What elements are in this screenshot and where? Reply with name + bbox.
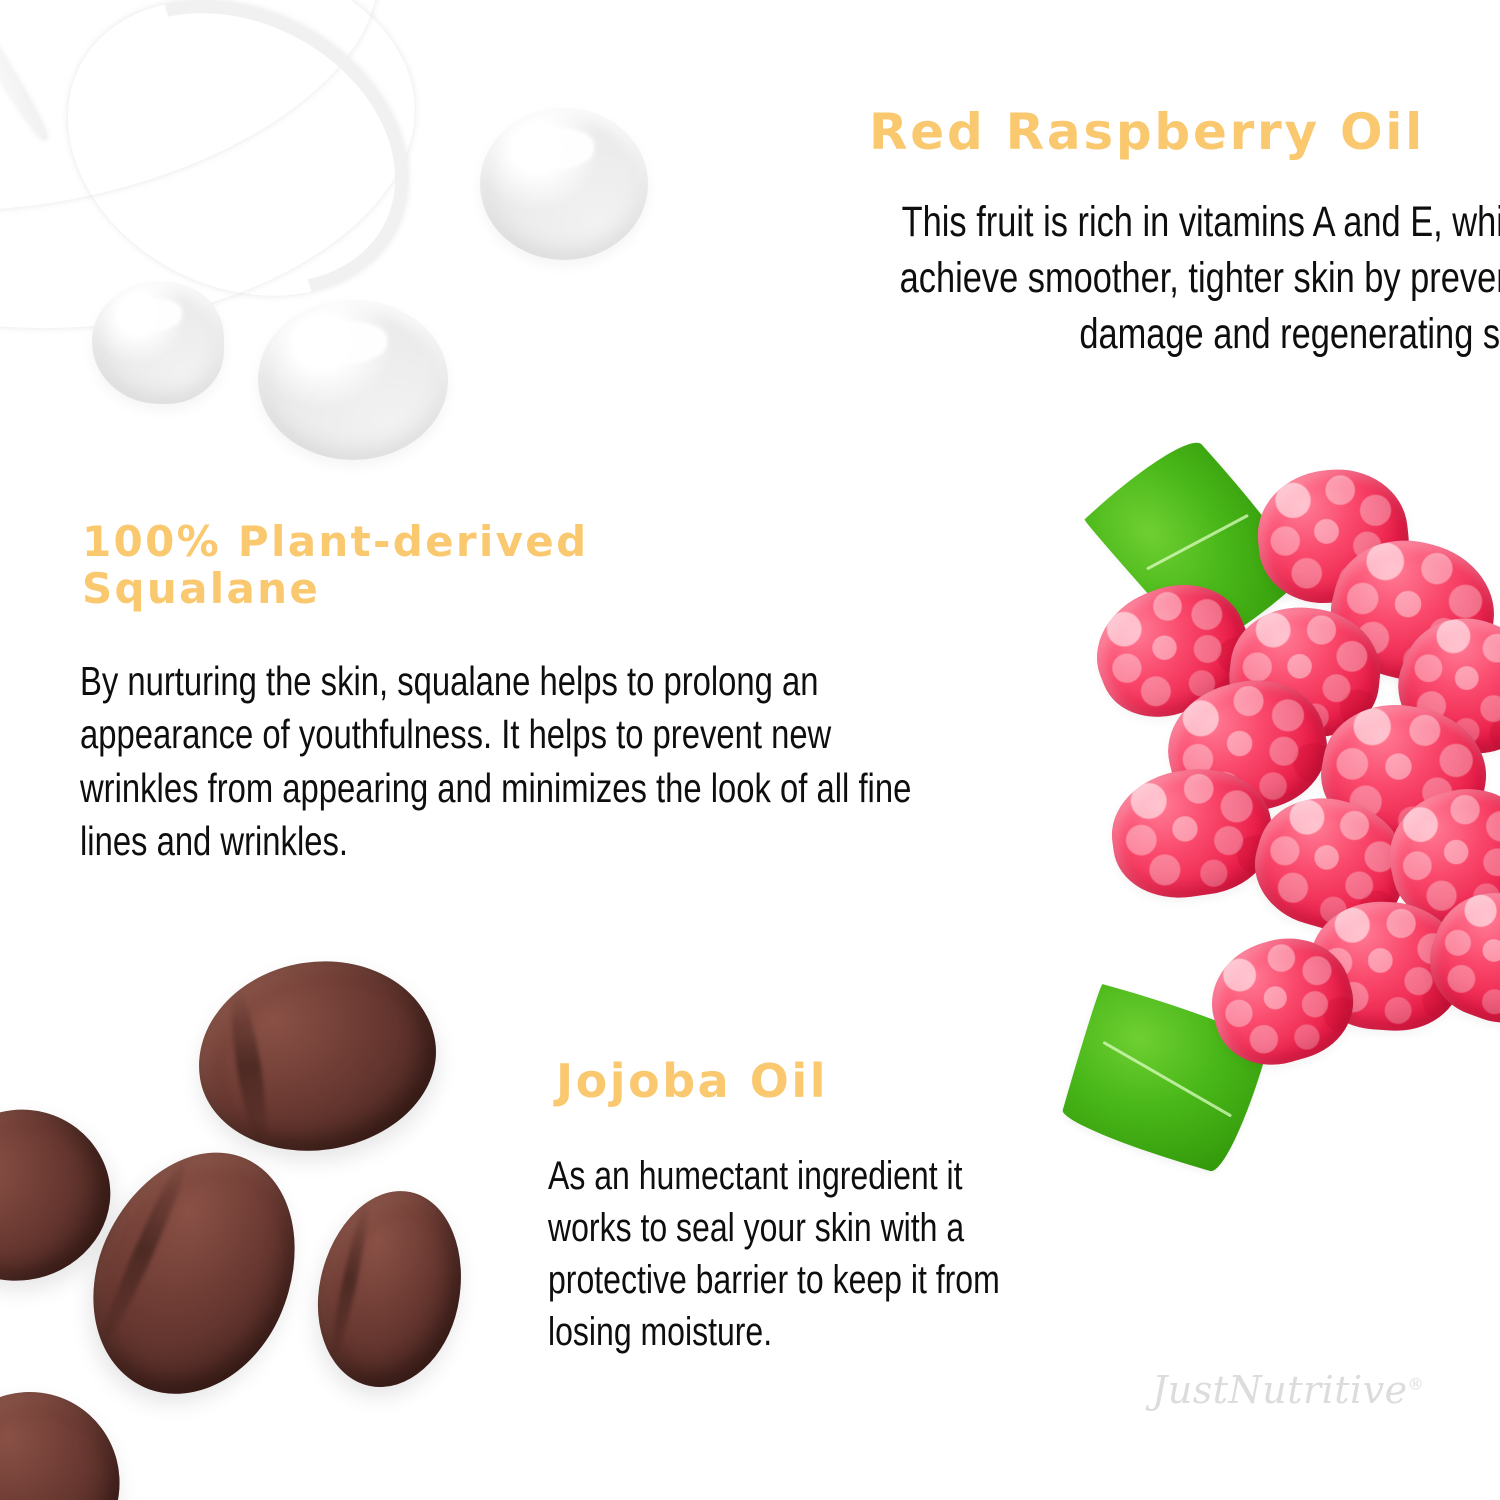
gel-swirl-stroke [0,0,409,264]
raspberry-section-body: This fruit is rich in vitamins A and E, … [806,195,1500,363]
raspberry-icon [1378,776,1500,935]
squalane-section-heading: 100% Plant-derived Squalane [82,518,722,612]
raspberry-icon [1306,897,1467,1035]
jojoba-section-heading: Jojoba Oil [556,1056,1056,1108]
raspberry-icon [1312,693,1497,853]
raspberry-leaf-icon [1058,983,1272,1177]
raspberry-leaf-icon [1082,428,1313,663]
raspberry-icon [1241,782,1420,946]
registered-mark-icon: ® [1408,1374,1425,1393]
gel-droplet-icon [480,108,648,260]
gel-swirl-stroke [16,0,460,353]
infographic-canvas: Red Raspberry Oil This fruit is rich in … [0,0,1500,1500]
gel-swirl-group [0,0,14,150]
squalane-section-body: By nurturing the skin, squalane helps to… [80,655,950,868]
jojoba-section-body: As an humectant ingredient it works to s… [548,1150,1052,1358]
brand-name: JustNutritive [1152,1368,1408,1412]
raspberry-icon [1104,759,1280,906]
gel-droplet-icon [92,282,224,404]
gel-droplet-icon [258,300,448,460]
raspberry-icon [1155,665,1340,829]
raspberry-section-heading: Red Raspberry Oil [700,104,1425,160]
jojoba-seed-icon [301,1178,479,1401]
jojoba-seed-icon [0,1380,131,1500]
raspberry-icon [1414,876,1500,1039]
gel-swirl-tail [0,7,52,143]
raspberry-icon [1381,599,1500,772]
brand-watermark: JustNutritive® [1152,1368,1424,1412]
jojoba-seed-icon [185,945,449,1168]
raspberry-icon [1318,524,1500,697]
